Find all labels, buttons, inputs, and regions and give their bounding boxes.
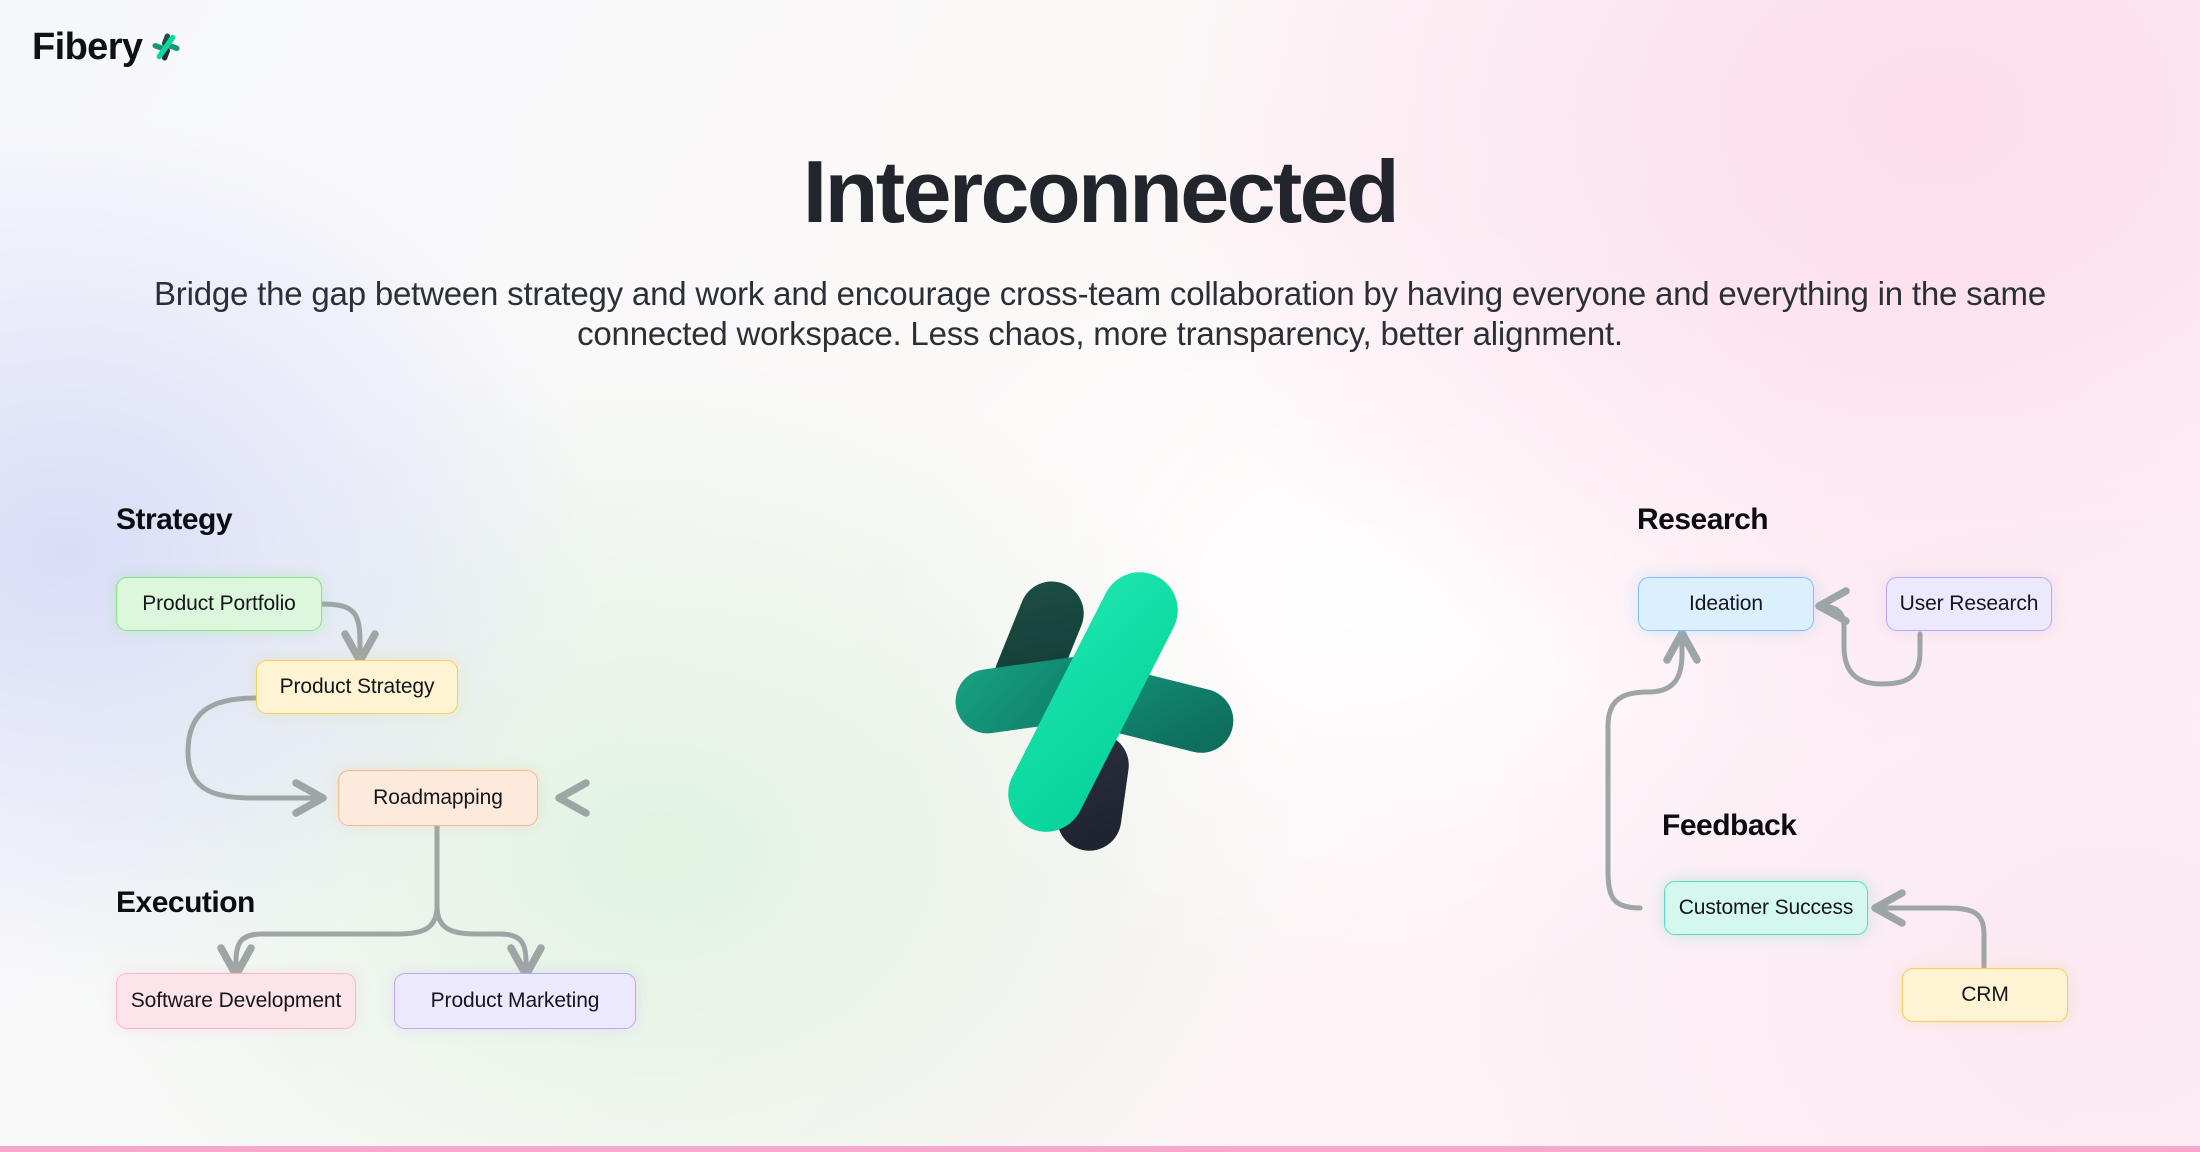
wire-roadmapping-to-marketing [437,820,526,974]
brand-wordmark: Fibery [32,28,142,66]
hero-section: Interconnected Bridge the gap between st… [0,0,2200,355]
brand-logo[interactable]: Fibery [32,28,181,66]
node-product-portfolio[interactable]: Product Portfolio [116,577,322,631]
node-product-strategy[interactable]: Product Strategy [256,660,458,714]
group-title-execution: Execution [116,886,255,920]
node-user-research[interactable]: User Research [1886,577,2052,631]
group-title-research: Research [1637,503,1768,537]
page-subtitle: Bridge the gap between strategy and work… [125,274,2075,355]
page-title: Interconnected [0,148,2200,236]
group-title-strategy: Strategy [116,503,232,537]
wire-roadmapping-to-software [236,820,437,974]
node-customer-success[interactable]: Customer Success [1664,881,1868,935]
page-root: Fibery Interconnected Bridge the gap bet… [0,0,2200,1152]
node-ideation[interactable]: Ideation [1638,577,1814,631]
node-crm[interactable]: CRM [1902,968,2068,1022]
node-product-marketing[interactable]: Product Marketing [394,973,636,1029]
group-title-feedback: Feedback [1662,809,1796,843]
wire-customer-success-to-ideation [1608,634,1682,908]
wire-crm-to-customer-success [1876,908,1984,968]
node-software-development[interactable]: Software Development [116,973,356,1029]
fibery-pinwheel-logo [945,555,1235,855]
wire-portfolio-to-strategy [322,604,360,660]
node-roadmapping[interactable]: Roadmapping [338,770,538,826]
footer-accent-rule [0,1146,2200,1152]
fibery-pinwheel-icon [151,32,181,62]
